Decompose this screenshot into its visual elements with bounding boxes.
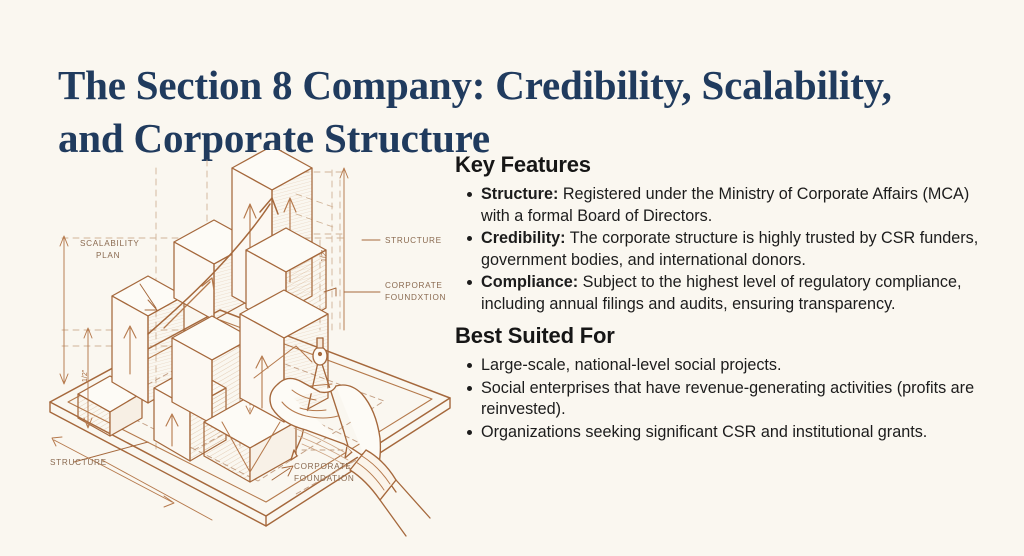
- list-item-text: Organizations seeking significant CSR an…: [481, 423, 927, 441]
- list-item: Credibility: The corporate structure is …: [481, 228, 995, 271]
- content-column: Key Features Structure: Registered under…: [455, 152, 995, 444]
- label-corporate-foundation-line2: FOUNDATION: [294, 474, 355, 483]
- label-corporate-foundation-line1: CORPORATE: [294, 462, 352, 471]
- list-item-lead: Structure:: [481, 185, 558, 203]
- key-features-heading: Key Features: [455, 152, 995, 178]
- list-item: Social enterprises that have revenue-gen…: [481, 378, 995, 421]
- label-scalability-plan-line1: SCALABILITY: [80, 239, 140, 248]
- list-item-text: Social enterprises that have revenue-gen…: [481, 379, 974, 419]
- isometric-blueprint-illustration: 1/2" 1/2": [44, 150, 456, 550]
- list-item-lead: Credibility:: [481, 229, 566, 247]
- best-suited-for-list: Large-scale, national-level social proje…: [455, 355, 995, 443]
- list-item: Large-scale, national-level social proje…: [481, 355, 995, 377]
- label-corporate-foundxtion-line2: FOUNDXTION: [385, 293, 446, 302]
- key-features-list: Structure: Registered under the Ministry…: [455, 184, 995, 315]
- label-corporate-foundxtion-line1: CORPORATE: [385, 281, 443, 290]
- svg-text:1/2": 1/2": [321, 249, 328, 262]
- svg-text:1/2": 1/2": [82, 369, 89, 382]
- list-item-text: Large-scale, national-level social proje…: [481, 356, 782, 374]
- list-item: Structure: Registered under the Ministry…: [481, 184, 995, 227]
- list-item-lead: Compliance:: [481, 273, 578, 291]
- slide-root: The Section 8 Company: Credibility, Scal…: [0, 0, 1024, 556]
- label-structure-bottom: STRUCTURE: [50, 458, 107, 467]
- list-item: Organizations seeking significant CSR an…: [481, 422, 995, 444]
- label-scalability-plan-line2: PLAN: [96, 251, 120, 260]
- best-suited-for-heading: Best Suited For: [455, 323, 995, 349]
- list-item: Compliance: Subject to the highest level…: [481, 272, 995, 315]
- label-structure-right: STRUCTURE: [385, 236, 442, 245]
- page-title: The Section 8 Company: Credibility, Scal…: [58, 59, 958, 163]
